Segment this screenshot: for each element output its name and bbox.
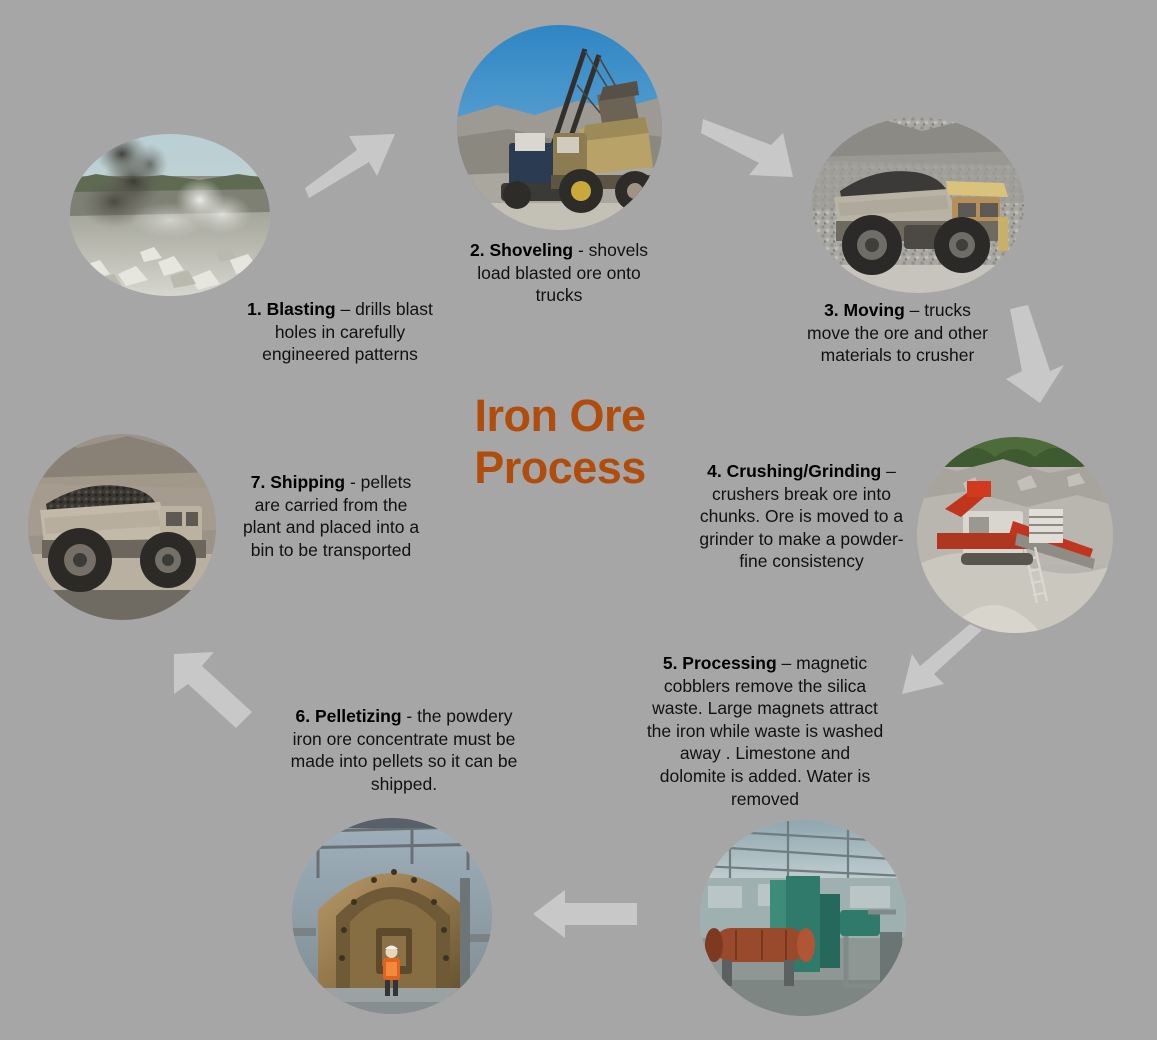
step-3-separator: – — [905, 300, 924, 320]
step-2-label: 2. Shoveling — [470, 240, 573, 260]
step-2-caption: 2. Shoveling - shovels load blasted ore … — [455, 239, 663, 307]
step-4-body: crushers break ore into chunks. Ore is m… — [699, 484, 903, 572]
step-7-label: 7. Shipping — [251, 472, 345, 492]
step-4-separator: – — [881, 461, 896, 481]
page-title: Iron Ore Process — [430, 390, 690, 494]
infographic-canvas: 1. Blasting – drills blast holes in care… — [0, 0, 1157, 1040]
arrow-3-to-4 — [1000, 305, 1076, 407]
step-1-label: 1. Blasting — [247, 299, 336, 319]
step-6-separator: - — [402, 706, 418, 726]
step-6-label: 6. Pelletizing — [296, 706, 402, 726]
step-3-caption: 3. Moving – trucks move the ore and othe… — [805, 299, 990, 367]
step-7-caption: 7. Shipping - pellets are carried from t… — [236, 471, 426, 561]
arrow-5-to-6 — [533, 890, 637, 938]
step-1-separator: – — [336, 299, 355, 319]
arrow-4-to-5 — [900, 624, 986, 702]
shoveling-photo — [457, 25, 662, 230]
arrow-2-to-3 — [701, 113, 797, 193]
pelletizing-photo — [292, 818, 492, 1014]
arrow-1-to-2 — [303, 120, 399, 200]
step-1-caption: 1. Blasting – drills blast holes in care… — [245, 298, 435, 366]
arrow-6-to-7 — [170, 650, 254, 730]
processing-photo — [700, 820, 906, 1016]
step-5-body: magnetic cobblers remove the silica wast… — [647, 653, 883, 809]
page-title-line2: Process — [430, 442, 690, 494]
blasting-photo — [70, 134, 270, 296]
step-5-separator: – — [777, 653, 796, 673]
step-4-caption: 4. Crushing/Grinding – crushers break or… — [694, 460, 909, 573]
shipping-photo — [28, 434, 216, 620]
page-title-line1: Iron Ore — [430, 390, 690, 442]
step-5-caption: 5. Processing – magnetic cobblers remove… — [645, 652, 885, 810]
moving-photo — [812, 117, 1024, 293]
step-3-label: 3. Moving — [824, 300, 905, 320]
step-6-caption: 6. Pelletizing - the powdery iron ore co… — [282, 705, 526, 795]
step-5-label: 5. Processing — [663, 653, 777, 673]
step-2-separator: - — [573, 240, 589, 260]
step-7-separator: - — [345, 472, 361, 492]
crushing-photo — [917, 437, 1113, 633]
step-4-label: 4. Crushing/Grinding — [707, 461, 881, 481]
